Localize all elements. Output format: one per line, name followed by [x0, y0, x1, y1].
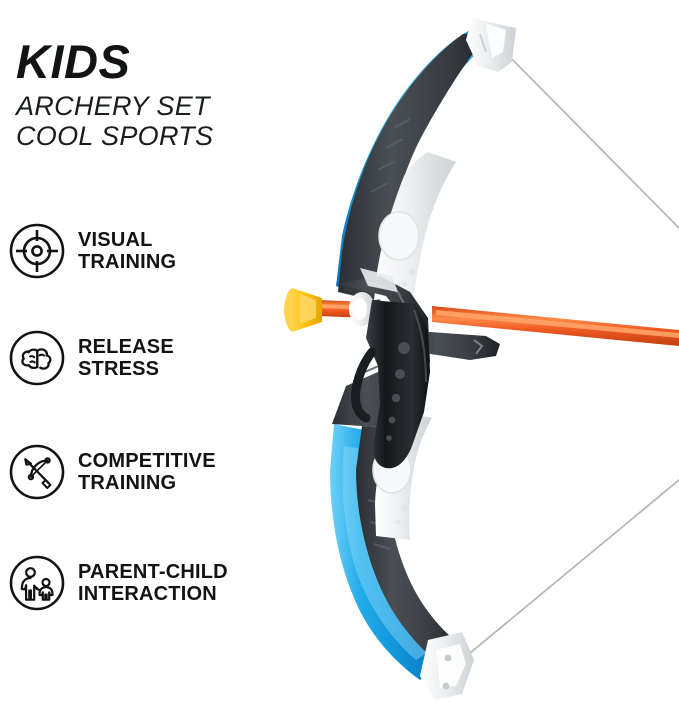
arrow-suction-tip: [284, 288, 322, 332]
upper-string-nock: [466, 18, 516, 72]
product-image-canvas: KIDS ARCHERY SET COOL SPORTS VISUAL TRAI…: [0, 0, 679, 711]
upper-limb: [336, 18, 516, 302]
product-illustration: [0, 0, 679, 711]
lower-string-nock: [420, 632, 474, 700]
